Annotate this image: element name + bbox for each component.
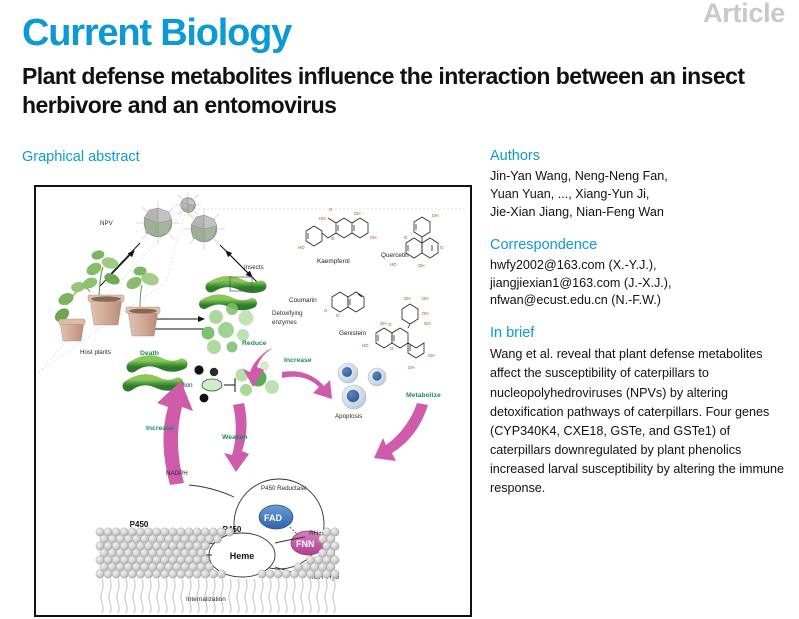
insect-caterpillars <box>204 277 261 305</box>
detoxifying-enzymes-label-line1: Detoxifying <box>272 310 303 317</box>
increase-apoptosis-arrow <box>282 371 332 399</box>
plant-pot-back <box>52 281 90 341</box>
authors-line-1: Jin-Yan Wang, Neng-Neng Fan, <box>490 169 668 183</box>
article-type-label: Article <box>703 0 785 29</box>
kaempferol-label: Kaempferol <box>317 258 350 265</box>
correspondence-line-1[interactable]: hwfy2002@163.com (X.-Y.J.), <box>490 258 657 272</box>
paper-title: Plant defense metabolites influence the … <box>22 62 782 120</box>
svg-text:OH: OH <box>354 211 361 216</box>
weaken-arrow-label: Weaken <box>222 434 248 441</box>
death-label: Death <box>140 350 159 357</box>
svg-text:OH: OH <box>422 296 429 301</box>
svg-text:OH: OH <box>432 213 439 218</box>
svg-text:O: O <box>331 236 335 241</box>
svg-text:HO: HO <box>298 245 305 250</box>
graphical-abstract-figure: NPV <box>34 185 472 617</box>
svg-text:OH: OH <box>404 296 411 301</box>
kaempferol-structure <box>306 218 368 246</box>
apoptosis-cells <box>338 363 386 409</box>
death-caterpillars <box>128 361 182 386</box>
authors-section: Authors Jin-Yan Wang, Neng-Neng Fan, Yua… <box>490 148 790 222</box>
apoptosis-label: Apoptosis <box>335 413 362 420</box>
svg-text:O: O <box>404 235 408 240</box>
authors-list: Jin-Yan Wang, Neng-Neng Fan, Yuan Yuan, … <box>490 168 790 222</box>
detoxifying-enzymes-label-line2: enzymes <box>272 319 297 326</box>
in-brief-section: In brief Wang et al. reveal that plant d… <box>490 325 790 498</box>
metadata-column: Authors Jin-Yan Wang, Neng-Neng Fan, Yua… <box>490 148 790 498</box>
metabolize-arrow <box>374 403 428 461</box>
host-plants-label: Host plants <box>80 349 111 356</box>
svg-text:OH: OH <box>408 365 415 370</box>
genistein-structure <box>376 304 424 358</box>
svg-text:OH: OH <box>380 321 387 326</box>
metabolize-arrow-label: Metabolize <box>406 392 441 399</box>
fnn-label: FNN <box>296 539 315 549</box>
svg-text:OH: OH <box>422 311 429 316</box>
svg-text:OH: OH <box>418 263 425 268</box>
quercetin-label: Quercetin <box>381 252 409 259</box>
svg-text:O: O <box>324 308 328 313</box>
genistein-label: Genistein <box>339 330 366 337</box>
reduce-arrow-label: Reduce <box>242 340 267 347</box>
graphical-abstract-drawing: NPV <box>36 187 470 615</box>
increase-apoptosis-label: Increase <box>284 357 312 364</box>
journal-title: Current Biology <box>22 14 291 52</box>
journal-graphical-abstract-page: Article Current Biology Plant defense me… <box>0 0 799 619</box>
svg-text:OH: OH <box>424 321 431 326</box>
coumarin-atom-labels: O O <box>324 308 340 318</box>
quercetin-structure <box>406 217 438 258</box>
coumarin-label: Coumarin <box>289 297 317 304</box>
authors-line-3: Jie-Xian Jiang, Nian-Feng Wan <box>490 205 664 219</box>
svg-text:O: O <box>440 245 444 250</box>
p450-reductase-label: P450 Reductase <box>261 485 307 492</box>
increase-death-label: Increase <box>146 425 174 432</box>
internalization-label: Internalization <box>186 596 226 603</box>
svg-text:HO: HO <box>390 262 397 267</box>
nadph-label: NADPH <box>166 470 188 477</box>
host-plants-illustration <box>52 249 160 341</box>
authors-line-2: Yuan Yuan, ..., Xiang-Yun Ji, <box>490 187 649 201</box>
svg-text:HO: HO <box>319 216 326 221</box>
correspondence-emails: hwfy2002@163.com (X.-Y.J.), jiangjiexian… <box>490 257 790 311</box>
svg-text:HO: HO <box>362 343 369 348</box>
svg-text:OH: OH <box>370 235 377 240</box>
correspondence-heading: Correspondence <box>490 237 790 253</box>
npv-virus-particles <box>136 192 225 250</box>
svg-text:OH: OH <box>428 353 435 358</box>
genistein-atom-labels: OH OH OH OH OH O HO O OH OH <box>362 296 435 370</box>
authors-heading: Authors <box>490 148 790 164</box>
in-brief-text: Wang et al. reveal that plant defense me… <box>490 345 790 498</box>
svg-text:O: O <box>390 346 394 351</box>
quercetin-atom-labels: OH O O HO OH <box>390 213 444 268</box>
svg-text:O: O <box>336 313 340 318</box>
in-brief-heading: In brief <box>490 325 790 341</box>
correspondence-line-2[interactable]: jiangjiexian1@163.com (J.-X.J.), <box>490 276 671 290</box>
insects-label: Insects <box>244 264 264 271</box>
npv-label: NPV <box>100 220 114 227</box>
melaninization-illustration <box>194 365 235 402</box>
coumarin-structure <box>332 292 364 312</box>
fad-label: FAD <box>264 513 283 523</box>
graphical-abstract-heading: Graphical abstract <box>22 149 140 165</box>
plant-pot-tall <box>81 249 124 325</box>
heme-label: Heme <box>230 551 255 561</box>
correspondence-section: Correspondence hwfy2002@163.com (X.-Y.J.… <box>490 237 790 311</box>
plant-pot-right <box>124 266 160 336</box>
correspondence-line-3[interactable]: nfwan@ecust.edu.cn (N.-F.W.) <box>490 293 661 307</box>
svg-text:O: O <box>329 207 333 212</box>
virus-capsid <box>144 198 217 243</box>
svg-text:O: O <box>388 322 392 327</box>
